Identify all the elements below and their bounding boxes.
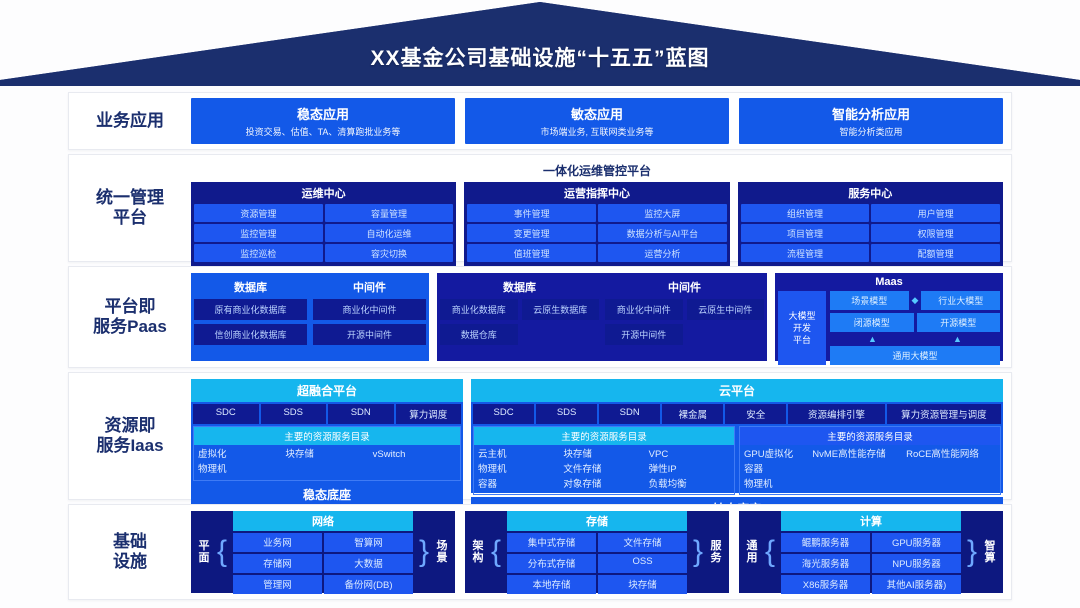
layer-unified-management: 统一管理 平台 一体化运维管控平台 运维中心 资源管理 容量管理 监控管理 自动… xyxy=(68,154,1012,262)
catalog-column: vSwitch xyxy=(373,448,456,477)
infra-cell[interactable]: X86服务器 xyxy=(781,575,870,594)
infra-cell[interactable]: 本地存储 xyxy=(507,575,596,594)
infra-cell[interactable]: 大数据 xyxy=(324,554,413,573)
layer-label-unified-management: 统一管理 平台 xyxy=(69,155,191,261)
infra-cell[interactable]: 集中式存储 xyxy=(507,533,596,552)
infra-cell[interactable]: 分布式存储 xyxy=(507,554,596,573)
paas-box-database-cloud: 数据库 商业化数据库 云原生数据库 数据仓库 xyxy=(440,276,599,358)
paas-item[interactable]: 原有商业化数据库 xyxy=(194,299,307,320)
maas-dev-platform[interactable]: 大模型 开发 平台 xyxy=(778,291,826,365)
infra-cell[interactable]: 其他AI服务器) xyxy=(872,575,961,594)
platform-title: 超融合平台 xyxy=(191,379,463,402)
center-cell[interactable]: 流程管理 xyxy=(741,244,870,262)
center-cell[interactable]: 监控大屏 xyxy=(598,204,727,222)
catalog-item: GPU虚拟化 xyxy=(744,448,808,462)
infra-right-label: 服务 xyxy=(709,540,723,564)
capability-chip[interactable]: SDN xyxy=(328,404,394,424)
capability-chip[interactable]: 算力调度 xyxy=(396,404,462,424)
center-cell[interactable]: 自动化运维 xyxy=(325,224,454,242)
paas-item[interactable]: 信创商业化数据库 xyxy=(194,324,307,345)
up-arrow-icon: ▲ xyxy=(953,335,962,344)
infra-header: 网络 xyxy=(233,511,413,531)
center-cell[interactable]: 组织管理 xyxy=(741,204,870,222)
catalog-item: 云主机 xyxy=(478,448,559,462)
infra-cell[interactable]: OSS xyxy=(598,554,687,573)
right-brace-icon: } xyxy=(965,540,979,564)
center-cell[interactable]: 用户管理 xyxy=(871,204,1000,222)
catalog-item: vSwitch xyxy=(373,448,456,462)
catalog-item: 弹性IP xyxy=(649,463,730,477)
maas-header: Maas xyxy=(778,275,1000,291)
center-cell[interactable]: 事件管理 xyxy=(467,204,596,222)
catalog-item: 文件存储 xyxy=(563,463,644,477)
infra-right-label: 场景 xyxy=(435,540,449,564)
capability-chip[interactable]: 资源编排引擎 xyxy=(788,404,885,424)
resource-catalog-ai: 主要的资源服务目录 GPU虚拟化 容器 物理机 NvME高性能存储 xyxy=(739,426,1001,495)
catalog-item: 物理机 xyxy=(198,463,281,477)
capability-chip[interactable]: 裸金属 xyxy=(662,404,723,424)
infra-header: 存储 xyxy=(507,511,687,531)
infra-right-label: 智算 xyxy=(983,540,997,564)
capability-chip[interactable]: SDS xyxy=(536,404,597,424)
infra-cell[interactable]: 海光服务器 xyxy=(781,554,870,573)
platform-title: 一体化运维管控平台 xyxy=(191,162,1003,179)
layer-label-business-apps: 业务应用 xyxy=(69,93,191,149)
center-header: 运营指挥中心 xyxy=(464,182,729,204)
infra-cell[interactable]: 备份网(DB) xyxy=(324,575,413,594)
capability-chip[interactable]: 安全 xyxy=(725,404,786,424)
catalog-item: 虚拟化 xyxy=(198,448,281,462)
paas-box-header: 中间件 xyxy=(313,276,426,299)
catalog-header: 主要的资源服务目录 xyxy=(740,427,1000,445)
resource-catalog: 主要的资源服务目录 云主机 物理机 容器 块存储 文件存储 xyxy=(473,426,735,495)
app-card-intelligent-analysis[interactable]: 智能分析应用 智能分析类应用 xyxy=(739,98,1003,144)
center-cell[interactable]: 容灾切换 xyxy=(325,244,454,262)
catalog-item: VPC xyxy=(649,448,730,462)
infra-cell[interactable]: 业务网 xyxy=(233,533,322,552)
resource-catalog: 主要的资源服务目录 虚拟化 物理机 块存储 vSwitc xyxy=(193,426,461,481)
left-brace-icon: { xyxy=(489,540,503,564)
infra-cell[interactable]: 块存储 xyxy=(598,575,687,594)
infra-cell[interactable]: 文件存储 xyxy=(598,533,687,552)
paas-item[interactable]: 商业化中间件 xyxy=(605,299,683,320)
layer-paas: 平台即 服务Paas 数据库 原有商业化数据库 信创商业化数据库 中间件 xyxy=(68,266,1012,368)
capability-chip[interactable]: SDN xyxy=(599,404,660,424)
layer-label-infrastructure: 基础 设施 xyxy=(69,505,191,599)
catalog-item: RoCE高性能网络 xyxy=(906,448,996,462)
infra-card-storage: 架构 { 存储 集中式存储 文件存储 分布式存储 OSS 本地存储 块存储 xyxy=(465,511,729,593)
catalog-item: 块存储 xyxy=(563,448,644,462)
maas-panel: Maas 大模型 开发 平台 场景模型 ◆ 行业大模型 闭源模型 开源模型 xyxy=(775,273,1003,361)
center-cell[interactable]: 运营分析 xyxy=(598,244,727,262)
infra-cell[interactable]: 鲲鹏服务器 xyxy=(781,533,870,552)
center-cell[interactable]: 数据分析与AI平台 xyxy=(598,224,727,242)
maas-open-source-model[interactable]: 开源模型 xyxy=(917,313,1001,332)
layer-business-apps: 业务应用 稳态应用 投资交易、估值、TA、清算跑批业务等 敏态应用 市场端业务,… xyxy=(68,92,1012,150)
capability-chip[interactable]: 算力资源管理与调度 xyxy=(887,404,1001,424)
layer-label-paas: 平台即 服务Paas xyxy=(69,267,191,367)
paas-box-header: 中间件 xyxy=(605,276,764,299)
catalog-item: 容器 xyxy=(744,463,808,477)
app-title: 稳态应用 xyxy=(297,104,349,123)
app-subtitle: 智能分析类应用 xyxy=(839,125,902,138)
center-cell[interactable]: 资源管理 xyxy=(194,204,323,222)
layer-infrastructure: 基础 设施 平面 { 网络 业务网 智算网 存储网 大数据 管理网 xyxy=(68,504,1012,600)
paas-item[interactable]: 开源中间件 xyxy=(313,324,426,345)
capability-chip[interactable]: SDC xyxy=(473,404,534,424)
left-arrow-icon: ◆ xyxy=(912,296,919,305)
paas-item[interactable]: 云原生中间件 xyxy=(687,299,765,320)
paas-item[interactable]: 数据仓库 xyxy=(440,324,518,345)
infra-left-label: 平面 xyxy=(197,540,211,564)
center-header: 服务中心 xyxy=(738,182,1003,204)
center-ops[interactable]: 运维中心 资源管理 容量管理 监控管理 自动化运维 监控巡检 容灾切换 xyxy=(191,182,456,266)
paas-item-placeholder xyxy=(687,324,765,345)
paas-item[interactable]: 开源中间件 xyxy=(605,324,683,345)
app-card-steady[interactable]: 稳态应用 投资交易、估值、TA、清算跑批业务等 xyxy=(191,98,455,144)
maas-general-model[interactable]: 通用大模型 xyxy=(830,346,1000,365)
blueprint-diagram: XX基金公司基础设施“十五五”蓝图 业务应用 稳态应用 投资交易、估值、TA、清… xyxy=(0,0,1080,608)
center-cell[interactable]: 监控管理 xyxy=(194,224,323,242)
maas-scene-model[interactable]: 场景模型 xyxy=(830,291,909,310)
paas-box-header: 数据库 xyxy=(440,276,599,299)
center-cell[interactable]: 权限管理 xyxy=(871,224,1000,242)
center-cell[interactable]: 监控巡检 xyxy=(194,244,323,262)
page-title: XX基金公司基础设施“十五五”蓝图 xyxy=(0,42,1080,72)
catalog-column: GPU虚拟化 容器 物理机 xyxy=(744,448,808,491)
infra-header: 计算 xyxy=(781,511,961,531)
app-subtitle: 市场端业务, 互联网类业务等 xyxy=(540,125,653,138)
infra-left-label: 通用 xyxy=(745,540,759,564)
infra-cell[interactable]: 智算网 xyxy=(324,533,413,552)
paas-item[interactable]: 商业化中间件 xyxy=(313,299,426,320)
capability-chip[interactable]: SDC xyxy=(193,404,259,424)
paas-group-cloudnative: 数据库 商业化数据库 云原生数据库 数据仓库 中间件 商业化中间件 云原生中间件 xyxy=(437,273,767,361)
center-cell[interactable]: 容量管理 xyxy=(325,204,454,222)
base-label-steady: 稳态底座 xyxy=(191,483,463,506)
catalog-item: 对象存储 xyxy=(563,478,644,492)
layer-label-iaas: 资源即 服务Iaas xyxy=(69,373,191,499)
infra-cell[interactable]: NPU服务器 xyxy=(872,554,961,573)
app-card-agile[interactable]: 敏态应用 市场端业务, 互联网类业务等 xyxy=(465,98,729,144)
infra-cell[interactable]: 存储网 xyxy=(233,554,322,573)
platform-title: 云平台 xyxy=(471,379,1003,402)
center-service[interactable]: 服务中心 组织管理 用户管理 项目管理 权限管理 流程管理 配额管理 xyxy=(738,182,1003,266)
infra-left-label: 架构 xyxy=(471,540,485,564)
paas-box-database-legacy: 数据库 原有商业化数据库 信创商业化数据库 xyxy=(194,276,307,358)
catalog-header: 主要的资源服务目录 xyxy=(474,427,734,445)
app-title: 智能分析应用 xyxy=(832,104,910,123)
up-arrow-icon: ▲ xyxy=(868,335,877,344)
paas-item[interactable]: 商业化数据库 xyxy=(440,299,518,320)
catalog-column: NvME高性能存储 xyxy=(812,448,902,491)
roof-banner: XX基金公司基础设施“十五五”蓝图 xyxy=(0,0,1080,86)
left-brace-icon: { xyxy=(215,540,229,564)
right-brace-icon: } xyxy=(417,540,431,564)
platform-cloud: 云平台 SDC SDS SDN 裸金属 安全 资源编排引擎 算力资源管理与调度 … xyxy=(471,379,1003,493)
catalog-item: 物理机 xyxy=(478,463,559,477)
catalog-item: 物理机 xyxy=(744,478,808,492)
catalog-column: 虚拟化 物理机 xyxy=(198,448,281,477)
right-brace-icon: } xyxy=(691,540,705,564)
center-cell[interactable]: 配额管理 xyxy=(871,244,1000,262)
left-brace-icon: { xyxy=(763,540,777,564)
layer-iaas: 资源即 服务Iaas 超融合平台 SDC SDS SDN 算力调度 主要的资源服… xyxy=(68,372,1012,500)
center-cell[interactable]: 值班管理 xyxy=(467,244,596,262)
catalog-column: 块存储 xyxy=(285,448,368,477)
center-operations-command[interactable]: 运营指挥中心 事件管理 监控大屏 变更管理 数据分析与AI平台 值班管理 运营分… xyxy=(464,182,729,266)
paas-box-middleware-legacy: 中间件 商业化中间件 开源中间件 xyxy=(313,276,426,358)
catalog-item: 容器 xyxy=(478,478,559,492)
maas-closed-source-model[interactable]: 闭源模型 xyxy=(830,313,914,332)
platform-hyperconverged: 超融合平台 SDC SDS SDN 算力调度 主要的资源服务目录 虚拟化 xyxy=(191,379,463,493)
catalog-column: 块存储 文件存储 对象存储 xyxy=(563,448,644,491)
paas-item[interactable]: 云原生数据库 xyxy=(522,299,600,320)
app-subtitle: 投资交易、估值、TA、清算跑批业务等 xyxy=(246,125,401,138)
catalog-header: 主要的资源服务目录 xyxy=(194,427,460,445)
maas-industry-model[interactable]: 行业大模型 xyxy=(921,291,1000,310)
app-title: 敏态应用 xyxy=(571,104,623,123)
paas-box-header: 数据库 xyxy=(194,276,307,299)
paas-item-placeholder xyxy=(522,324,600,345)
center-cell[interactable]: 变更管理 xyxy=(467,224,596,242)
paas-group-legacy: 数据库 原有商业化数据库 信创商业化数据库 中间件 商业化中间件 开源中间件 xyxy=(191,273,429,361)
infra-card-compute: 通用 { 计算 鲲鹏服务器 GPU服务器 海光服务器 NPU服务器 X86服务器… xyxy=(739,511,1003,593)
infra-cell[interactable]: GPU服务器 xyxy=(872,533,961,552)
catalog-item: 负载均衡 xyxy=(649,478,730,492)
infra-card-network: 平面 { 网络 业务网 智算网 存储网 大数据 管理网 备份网(DB) xyxy=(191,511,455,593)
catalog-column: VPC 弹性IP 负载均衡 xyxy=(649,448,730,491)
catalog-column: RoCE高性能网络 xyxy=(906,448,996,491)
capability-chip[interactable]: SDS xyxy=(261,404,327,424)
catalog-item: 块存储 xyxy=(285,448,368,462)
infra-cell[interactable]: 管理网 xyxy=(233,575,322,594)
paas-box-middleware-cloud: 中间件 商业化中间件 云原生中间件 开源中间件 xyxy=(605,276,764,358)
center-cell[interactable]: 项目管理 xyxy=(741,224,870,242)
catalog-column: 云主机 物理机 容器 xyxy=(478,448,559,491)
center-header: 运维中心 xyxy=(191,182,456,204)
catalog-item: NvME高性能存储 xyxy=(812,448,902,462)
